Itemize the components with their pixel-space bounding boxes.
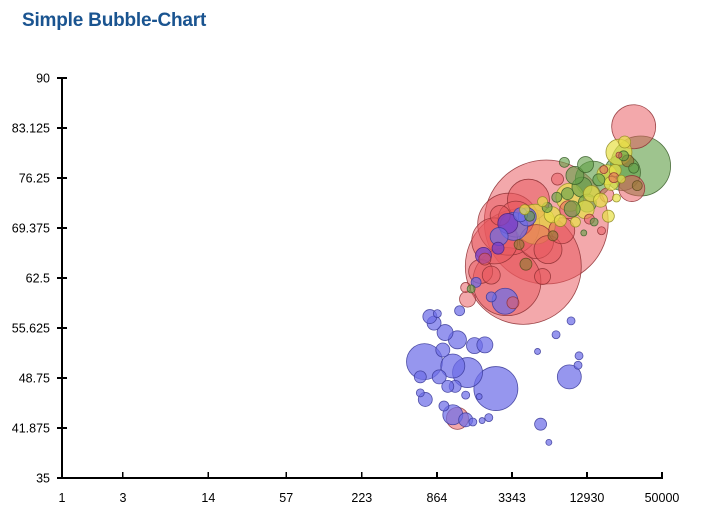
- bubble-point[interactable]: [593, 174, 605, 186]
- x-tick-label: 1: [59, 491, 66, 505]
- bubble-point[interactable]: [414, 371, 426, 383]
- bubble-point[interactable]: [535, 348, 541, 354]
- bubble-point[interactable]: [632, 181, 642, 191]
- bubble-point[interactable]: [479, 253, 491, 265]
- bubble-point[interactable]: [416, 389, 424, 397]
- bubble-point[interactable]: [439, 401, 449, 411]
- x-tick-label: 14: [201, 491, 215, 505]
- bubble-point[interactable]: [552, 173, 564, 185]
- bubble-point[interactable]: [535, 418, 547, 430]
- bubble-point[interactable]: [578, 157, 594, 173]
- y-tick-label: 35: [36, 472, 50, 486]
- bubble-point[interactable]: [598, 227, 606, 235]
- bubble-point[interactable]: [562, 188, 574, 200]
- y-tick-label: 41.875: [12, 422, 50, 436]
- bubble-point[interactable]: [575, 352, 583, 360]
- bubble-point[interactable]: [574, 361, 582, 369]
- bubble-point[interactable]: [619, 136, 631, 148]
- bubble-point[interactable]: [629, 163, 639, 173]
- bubble-point[interactable]: [548, 231, 558, 241]
- y-tick-label: 69.375: [12, 222, 50, 236]
- bubble-point[interactable]: [460, 291, 476, 307]
- y-tick-label: 76.25: [19, 172, 50, 186]
- bubble-point[interactable]: [476, 394, 482, 400]
- y-tick-label: 62.5: [26, 272, 50, 286]
- y-tick-label: 90: [36, 72, 50, 86]
- x-tick-label: 223: [351, 491, 372, 505]
- bubble-point[interactable]: [559, 157, 569, 167]
- bubble-point[interactable]: [564, 201, 580, 217]
- bubble-point[interactable]: [492, 242, 504, 254]
- bubble-point[interactable]: [520, 205, 530, 215]
- bubble-point[interactable]: [507, 297, 519, 309]
- bubble-point[interactable]: [436, 343, 450, 357]
- bubble-point[interactable]: [581, 230, 587, 236]
- bubble-point[interactable]: [485, 414, 493, 422]
- bubble-point[interactable]: [535, 269, 551, 285]
- bubble-point[interactable]: [552, 331, 560, 339]
- bubble-point[interactable]: [590, 218, 598, 226]
- bubble-chart-page: Simple Bubble-Chart 3541.87548.7555.6256…: [0, 0, 711, 522]
- bubble-point[interactable]: [570, 217, 580, 227]
- bubble-point[interactable]: [433, 310, 441, 318]
- x-tick-label: 3343: [498, 491, 526, 505]
- bubbles-layer: [406, 105, 670, 446]
- bubble-point[interactable]: [455, 306, 465, 316]
- tick-labels-layer: 3541.87548.7555.62562.569.37576.2583.125…: [12, 72, 680, 506]
- bubble-point[interactable]: [594, 193, 608, 207]
- y-tick-label: 55.625: [12, 322, 50, 336]
- bubble-point[interactable]: [602, 210, 614, 222]
- bubble-point[interactable]: [477, 337, 493, 353]
- x-tick-label: 864: [427, 491, 448, 505]
- bubble-point[interactable]: [554, 215, 566, 227]
- bubble-point[interactable]: [462, 391, 470, 399]
- bubble-point[interactable]: [617, 175, 625, 183]
- bubble-point[interactable]: [442, 380, 454, 392]
- x-tick-label: 3: [119, 491, 126, 505]
- y-tick-label: 83.125: [12, 122, 50, 136]
- y-tick-label: 48.75: [19, 372, 50, 386]
- x-tick-label: 50000: [645, 491, 680, 505]
- x-tick-label: 12930: [570, 491, 605, 505]
- bubble-point[interactable]: [486, 292, 496, 302]
- bubble-point[interactable]: [567, 317, 575, 325]
- bubble-point[interactable]: [612, 194, 620, 202]
- bubble-point[interactable]: [482, 266, 500, 284]
- bubble-point[interactable]: [546, 439, 552, 445]
- bubble-point[interactable]: [520, 258, 532, 270]
- bubble-point[interactable]: [479, 418, 485, 424]
- x-tick-label: 57: [279, 491, 293, 505]
- bubble-point[interactable]: [552, 192, 562, 202]
- bubble-point[interactable]: [600, 166, 608, 174]
- bubble-chart-plot: 3541.87548.7555.62562.569.37576.2583.125…: [0, 0, 711, 522]
- bubble-point[interactable]: [467, 285, 475, 293]
- bubble-point[interactable]: [469, 418, 477, 426]
- bubble-point[interactable]: [514, 240, 524, 250]
- bubble-point[interactable]: [616, 152, 622, 158]
- bubble-point[interactable]: [538, 197, 548, 207]
